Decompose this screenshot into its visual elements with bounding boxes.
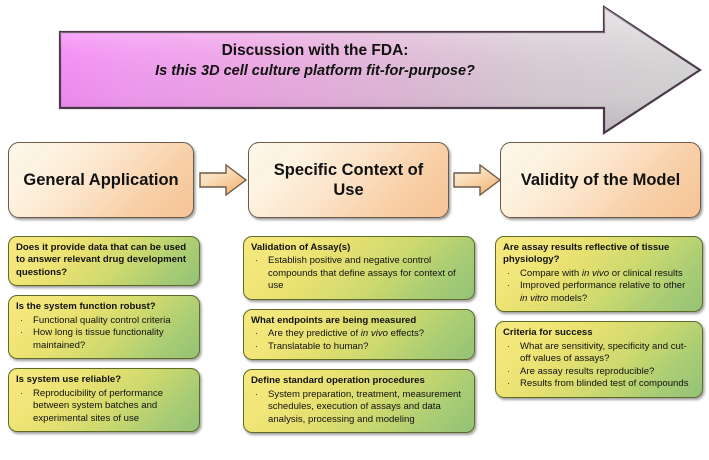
stage-box-specific-context-of-use[interactable]: Specific Context of Use: [248, 142, 449, 218]
detail-column-validity-of-the-model: Are assay results reflective of tissue p…: [495, 236, 703, 407]
detail-box-bullet-list: ·System preparation, treatment, measurem…: [251, 389, 467, 426]
bullet-dot-icon: ·: [20, 388, 23, 400]
fda-discussion-arrow-banner: [14, 4, 702, 136]
detail-column-specific-context-of-use: Validation of Assay(s)·Establish positiv…: [243, 236, 475, 442]
detail-box-title: Define standard operation procedures: [251, 375, 467, 387]
detail-box-bullet-list: ·Functional quality control criteria·How…: [16, 315, 192, 352]
bullet-text: What are sensitivity, specificity and cu…: [520, 341, 687, 364]
bullet-text: Reproducibility of performance between s…: [33, 388, 163, 424]
detail-box-bullet-item: ·Functional quality control criteria: [16, 315, 192, 327]
bullet-text: Improved performance relative to other i…: [520, 280, 685, 303]
detail-box-bullet-item: ·Results from blinded test of compounds: [503, 378, 695, 390]
detail-box[interactable]: Is system use reliable?·Reproducibility …: [8, 368, 200, 432]
bullet-dot-icon: ·: [255, 389, 258, 401]
detail-box-title: Does it provide data that can be used to…: [16, 242, 192, 279]
bullet-dot-icon: ·: [20, 315, 23, 327]
arrow-right-icon: [198, 163, 248, 197]
detail-box-title: Is system use reliable?: [16, 374, 192, 386]
bullet-dot-icon: ·: [255, 341, 258, 353]
bullet-text: Establish positive and negative control …: [268, 255, 456, 291]
bullet-text: Translatable to human?: [268, 341, 368, 352]
detail-box[interactable]: Does it provide data that can be used to…: [8, 236, 200, 286]
bullet-dot-icon: ·: [507, 268, 510, 280]
detail-column-general-application: Does it provide data that can be used to…: [8, 236, 200, 441]
detail-box-bullet-list: ·Compare with in vivo or clinical result…: [503, 268, 695, 305]
connector-arrow-right-icon-1: [198, 163, 248, 197]
bullet-text: Are they predictive of in vivo effects?: [268, 328, 424, 339]
stage-box-general-application[interactable]: General Application: [8, 142, 194, 218]
detail-box-bullet-list: ·What are sensitivity, specificity and c…: [503, 341, 695, 391]
detail-box-bullet-list: ·Reproducibility of performance between …: [16, 388, 192, 425]
detail-box-title: Validation of Assay(s): [251, 242, 467, 254]
detail-box[interactable]: What endpoints are being measured·Are th…: [243, 309, 475, 360]
bullet-text: Results from blinded test of compounds: [520, 378, 689, 389]
detail-box-bullet-item: ·Reproducibility of performance between …: [16, 388, 192, 425]
bullet-dot-icon: ·: [255, 328, 258, 340]
bullet-dot-icon: ·: [507, 366, 510, 378]
bullet-dot-icon: ·: [507, 378, 510, 390]
detail-box-bullet-list: ·Establish positive and negative control…: [251, 255, 467, 292]
detail-box-bullet-item: ·How long is tissue functionality mainta…: [16, 327, 192, 352]
bullet-text: Functional quality control criteria: [33, 315, 171, 326]
detail-box-bullet-item: ·Translatable to human?: [251, 341, 467, 353]
detail-box[interactable]: Validation of Assay(s)·Establish positiv…: [243, 236, 475, 300]
connector-arrow-right-icon-2: [452, 163, 502, 197]
detail-box[interactable]: Are assay results reflective of tissue p…: [495, 236, 703, 312]
detail-box-bullet-list: ·Are they predictive of in vivo effects?…: [251, 328, 467, 353]
bullet-text: Are assay results reproducible?: [520, 366, 654, 377]
detail-box-bullet-item: ·Improved performance relative to other …: [503, 280, 695, 305]
detail-box-title: Are assay results reflective of tissue p…: [503, 242, 695, 267]
detail-box-bullet-item: ·Compare with in vivo or clinical result…: [503, 268, 695, 280]
bullet-dot-icon: ·: [255, 255, 258, 267]
arrow-right-icon: [452, 163, 502, 197]
stage-label: Validity of the Model: [521, 170, 681, 190]
stage-label: General Application: [23, 170, 178, 190]
detail-box-title: What endpoints are being measured: [251, 315, 467, 327]
bullet-dot-icon: ·: [507, 341, 510, 353]
detail-box-bullet-item: ·What are sensitivity, specificity and c…: [503, 341, 695, 366]
detail-box-bullet-item: ·System preparation, treatment, measurem…: [251, 389, 467, 426]
detail-box-bullet-item: ·Establish positive and negative control…: [251, 255, 467, 292]
bullet-text: Compare with in vivo or clinical results: [520, 268, 683, 279]
detail-box-bullet-item: ·Are assay results reproducible?: [503, 366, 695, 378]
detail-box[interactable]: Criteria for success·What are sensitivit…: [495, 321, 703, 397]
detail-box[interactable]: Define standard operation procedures·Sys…: [243, 369, 475, 433]
bullet-dot-icon: ·: [20, 327, 23, 339]
stage-box-validity-of-the-model[interactable]: Validity of the Model: [500, 142, 701, 218]
bullet-dot-icon: ·: [507, 280, 510, 292]
bullet-text: How long is tissue functionality maintai…: [33, 327, 164, 350]
detail-box-bullet-item: ·Are they predictive of in vivo effects?: [251, 328, 467, 340]
arrow-banner-shape: [14, 4, 702, 136]
detail-box-title: Criteria for success: [503, 327, 695, 339]
detail-box[interactable]: Is the system function robust?·Functiona…: [8, 295, 200, 359]
stage-label: Specific Context of Use: [257, 160, 440, 200]
detail-box-title: Is the system function robust?: [16, 301, 192, 313]
bullet-text: System preparation, treatment, measureme…: [268, 389, 461, 425]
